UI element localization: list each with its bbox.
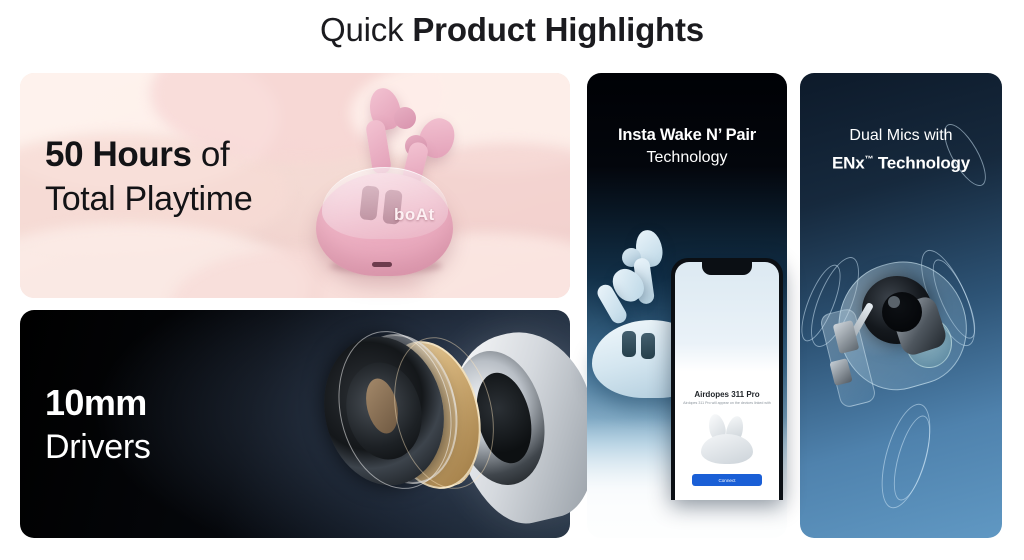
phone-mockup: Airdopes 311 Pro Airdopes 311 Pro will a…: [671, 258, 783, 500]
page-title: Quick Product Highlights: [0, 8, 1024, 52]
boat-logo: boAt: [394, 205, 452, 227]
page-title-light: Quick: [320, 11, 412, 48]
page-title-bold: Product Highlights: [412, 11, 704, 48]
pair-headline: Insta Wake N’ Pair: [587, 124, 787, 146]
phone-notch: [702, 262, 752, 275]
playtime-subline: Total Playtime: [45, 177, 252, 221]
case-charging-port: [372, 262, 392, 267]
playtime-text-block: 50 Hours of Total Playtime: [45, 133, 252, 221]
case-slot: [641, 333, 655, 359]
drivers-headline: 10mm: [45, 381, 151, 425]
playtime-headline-bold: 50 Hours: [45, 135, 192, 174]
mics-subline: ENx™ Technology: [800, 147, 1002, 176]
playtime-headline-light: of: [192, 135, 230, 174]
drivers-subline: Drivers: [45, 425, 151, 469]
connect-button[interactable]: Connect: [692, 474, 762, 486]
pair-text-block: Insta Wake N’ Pair Technology: [587, 124, 787, 170]
mics-headline: Dual Mics with: [800, 124, 1002, 147]
product-highlights-page: Quick Product Highlights boAt 50 Hours o…: [0, 0, 1024, 560]
mics-text-block: Dual Mics with ENx™ Technology: [800, 124, 1002, 176]
drivers-text-block: 10mm Drivers: [45, 381, 151, 469]
mics-subline-rest: Technology: [873, 154, 970, 173]
playtime-headline: 50 Hours of: [45, 133, 252, 177]
phone-screen: Airdopes 311 Pro Airdopes 311 Pro will a…: [675, 262, 779, 500]
phone-product-subtitle: Airdopes 311 Pro will appear on the devi…: [681, 401, 773, 406]
earbud-pink-left-tip: [394, 107, 416, 129]
trademark-icon: ™: [865, 154, 874, 164]
pair-subline: Technology: [587, 146, 787, 170]
mics-subline-brand: ENx: [832, 154, 864, 173]
earbud-xray-mic: [888, 296, 900, 308]
phone-product-title: Airdopes 311 Pro: [675, 390, 779, 399]
phone-case-image: [701, 434, 753, 464]
case-slot: [622, 331, 636, 357]
phone-product-image: [697, 412, 757, 464]
